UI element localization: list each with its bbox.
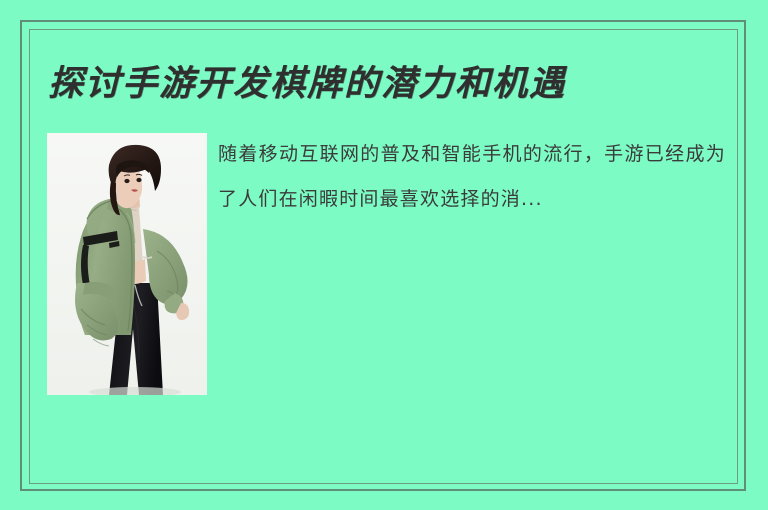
fashion-photo-illustration [47, 133, 207, 395]
article-photo [47, 133, 207, 395]
page-title: 探讨手游开发棋牌的潜力和机遇 [48, 60, 708, 114]
article-excerpt: 随着移动互联网的普及和智能手机的流行，手游已经成为了人们在闲暇时间最喜欢选择的消… [218, 132, 726, 222]
article-card: 探讨手游开发棋牌的潜力和机遇 [0, 0, 768, 510]
